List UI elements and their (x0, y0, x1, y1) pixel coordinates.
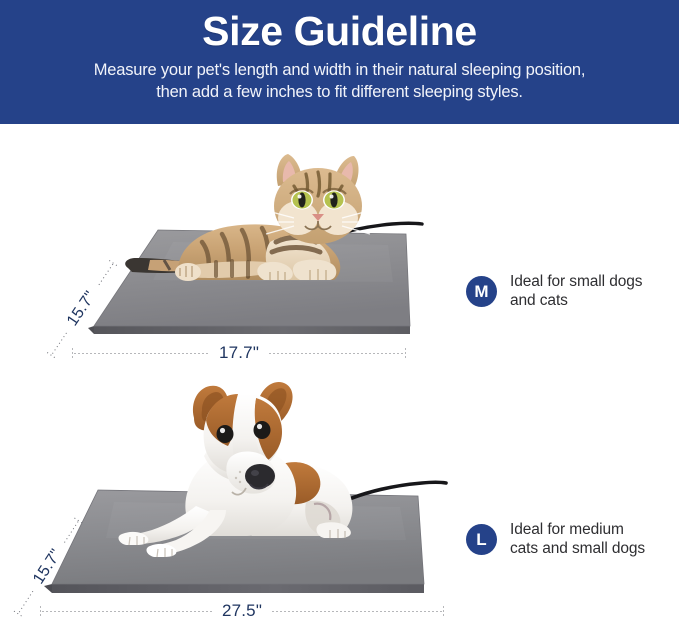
dimension-width-label: 17.7" (210, 346, 268, 360)
dimension-cap-end (405, 347, 406, 360)
dimension-line-segment (73, 353, 210, 354)
header-subtitle: Measure your pet's length and width in t… (94, 59, 586, 103)
size-badge-l: L (466, 524, 497, 555)
size-badge-m: M (466, 276, 497, 307)
dimension-width-label: 27.5" (213, 604, 271, 618)
dimension-width-large: 27.5" (40, 604, 444, 618)
product-image-medium: 15.7" 17.7" (0, 124, 460, 376)
size-caption-line-2: cats and small dogs (510, 539, 645, 558)
dimension-width-medium: 17.7" (72, 346, 406, 360)
size-caption-large: Ideal for medium cats and small dogs (510, 520, 645, 558)
size-caption-line-2: and cats (510, 291, 642, 310)
size-caption-line-1: Ideal for small dogs (510, 272, 642, 291)
size-guideline-infographic: Size Guideline Measure your pet's length… (0, 0, 679, 628)
page-title: Size Guideline (202, 6, 477, 56)
size-option-large[interactable]: L Ideal for medium cats and small dogs (466, 520, 645, 558)
size-caption-medium: Ideal for small dogs and cats (510, 272, 642, 310)
size-caption-line-1: Ideal for medium (510, 520, 645, 539)
dimension-line-segment (268, 353, 405, 354)
product-section-medium: 15.7" 17.7" M Ideal for small dogs and c… (0, 124, 679, 376)
cat-illustration (120, 146, 390, 336)
size-option-medium[interactable]: M Ideal for small dogs and cats (466, 272, 642, 310)
dimension-line-segment (41, 611, 213, 612)
header-subtitle-line-1: Measure your pet's length and width in t… (94, 59, 586, 81)
dog-illustration (92, 378, 392, 590)
dimension-cap-end (443, 605, 444, 618)
product-image-large: 15.7" 27.5" (0, 376, 460, 628)
header-subtitle-line-2: then add a few inches to fit different s… (94, 81, 586, 103)
dimension-line-segment (271, 611, 443, 612)
product-section-large: 15.7" 27.5" L Ideal for medium cats and … (0, 376, 679, 628)
header-banner: Size Guideline Measure your pet's length… (0, 0, 679, 124)
